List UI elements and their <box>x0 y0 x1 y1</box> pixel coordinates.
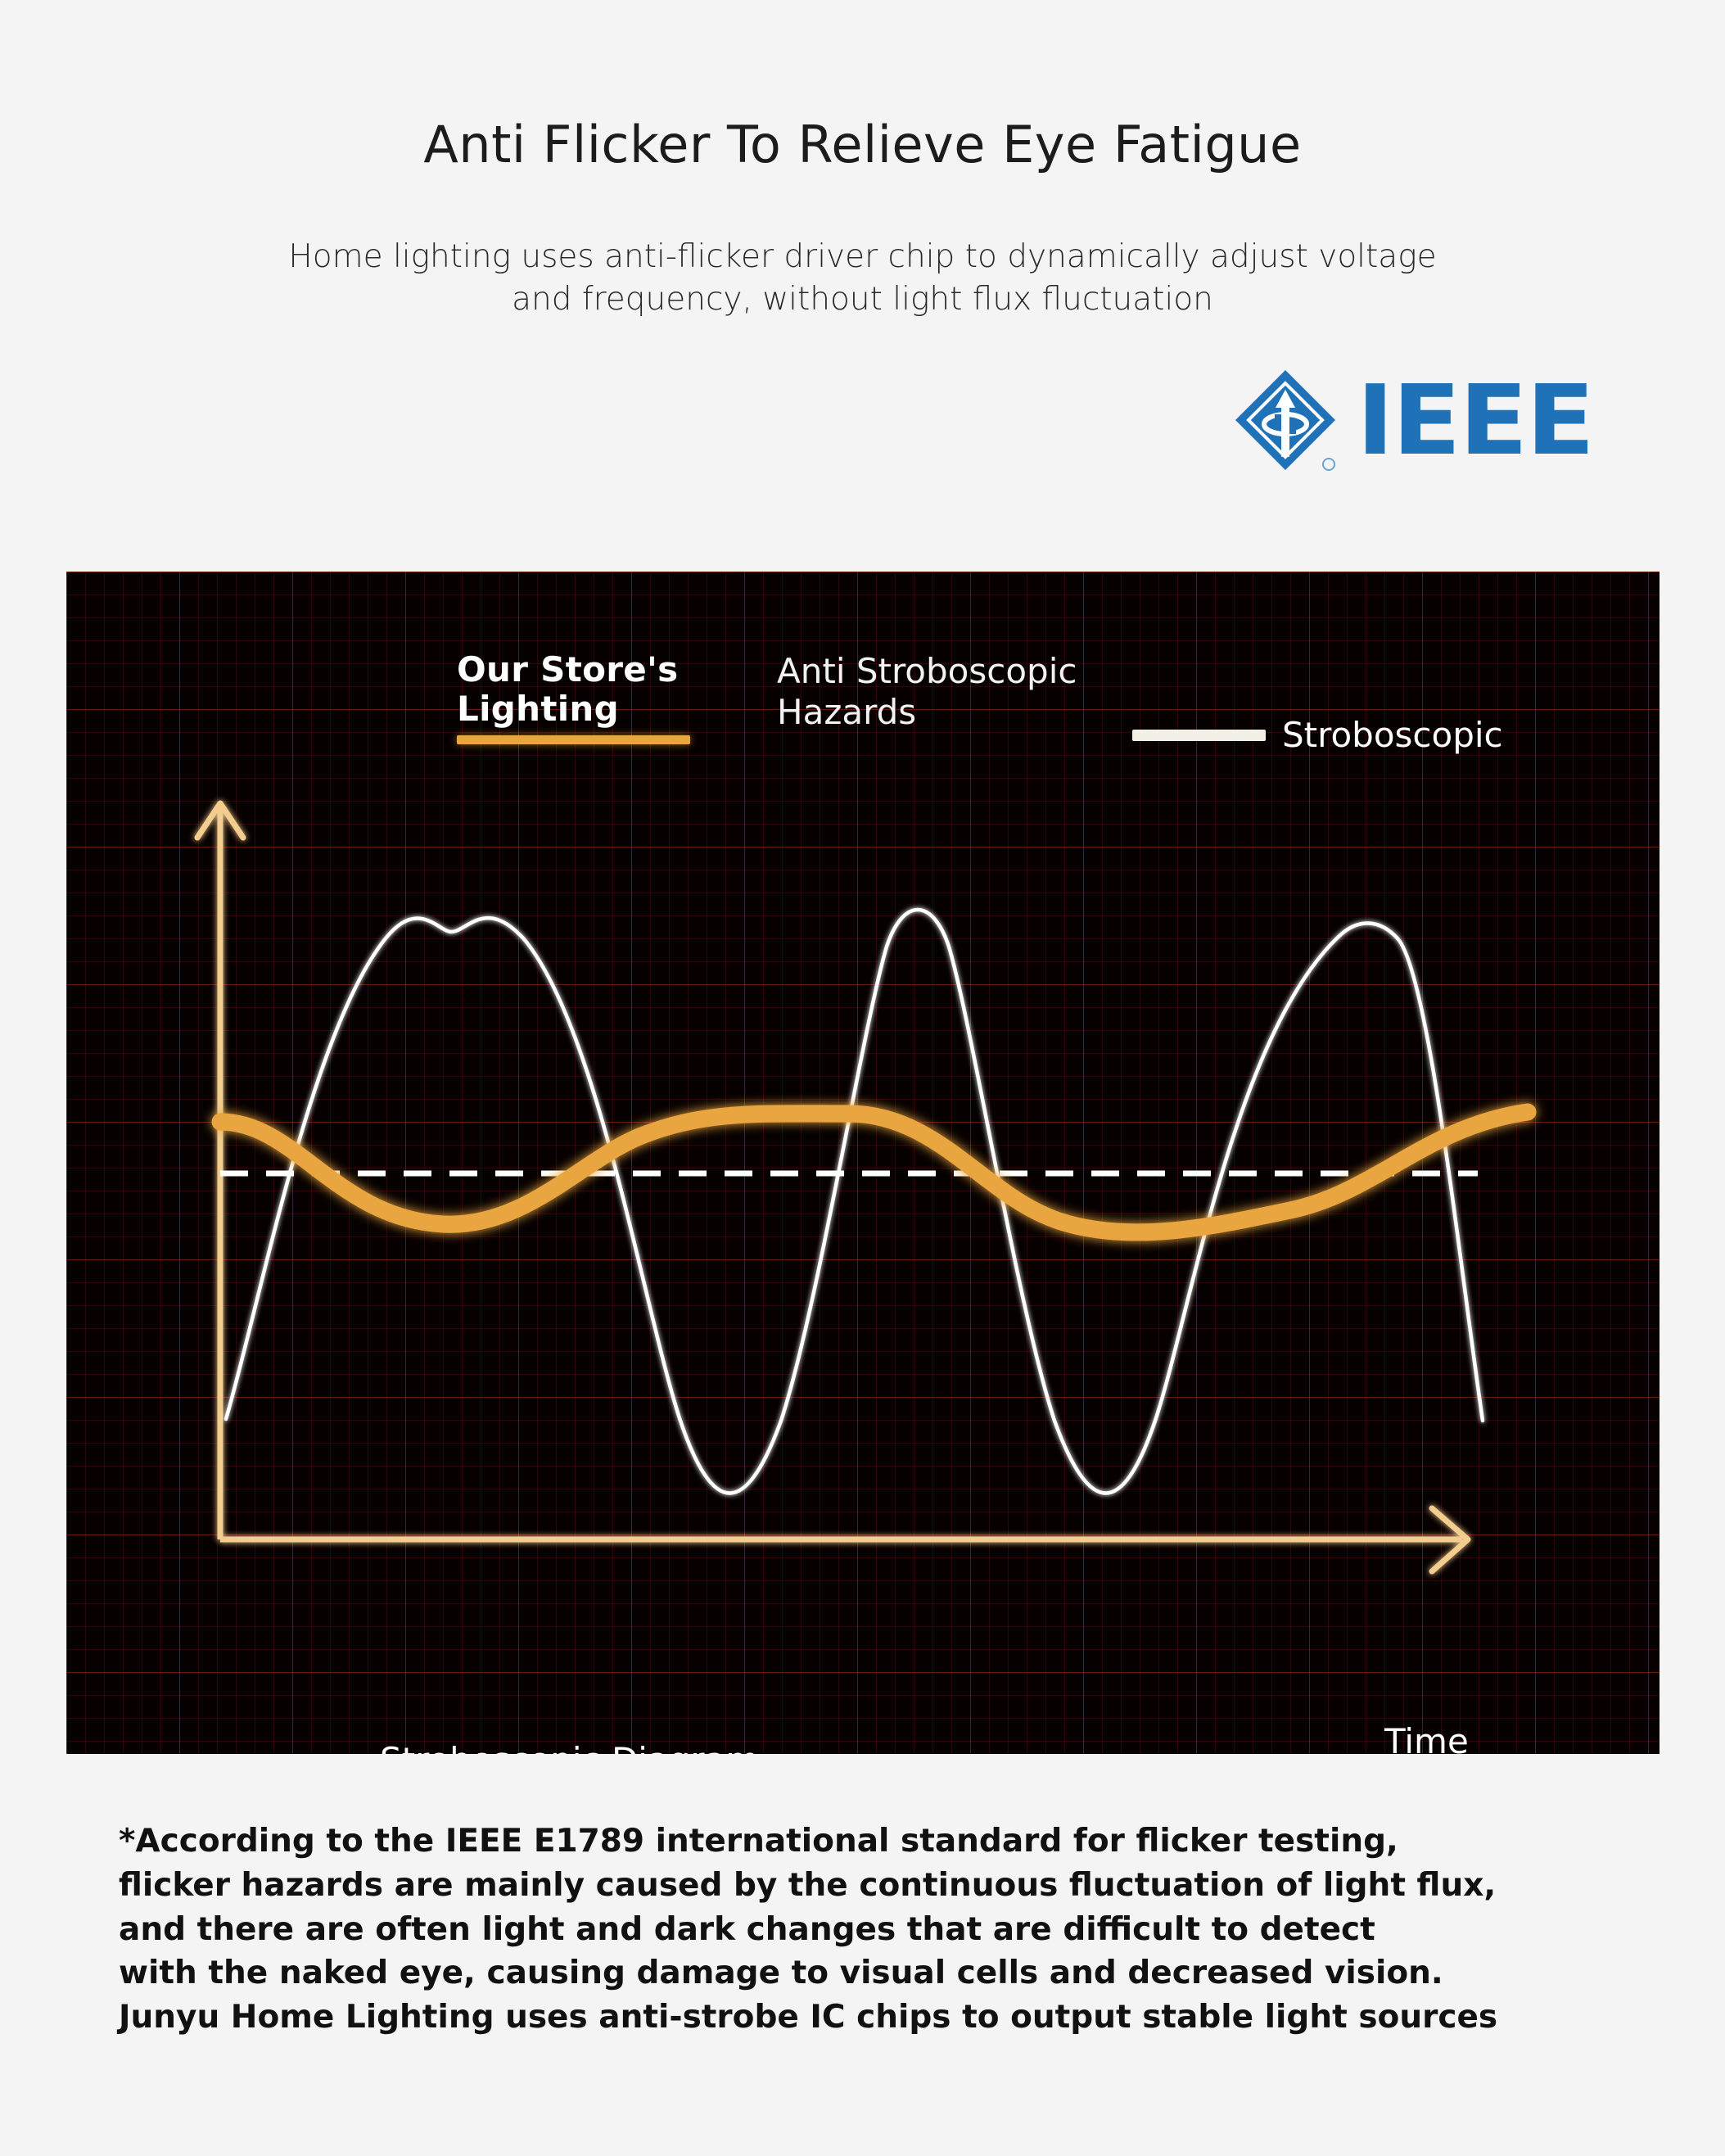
ieee-wordmark: IEEE <box>1357 372 1593 468</box>
x-axis-label: Time <box>1384 1721 1469 1754</box>
page-subtitle-line-2: and frequency, without light flux fluctu… <box>0 278 1725 321</box>
ieee-logo: IEEE <box>1232 363 1650 477</box>
footnote-line-1: *According to the IEEE E1789 internation… <box>119 1819 1625 1864</box>
chart-title-caption: Stroboscopic Diagram <box>380 1740 759 1754</box>
x-axis <box>220 1508 1468 1571</box>
page-subtitle: Home lighting uses anti-flicker driver c… <box>0 236 1725 321</box>
footnote-block: *According to the IEEE E1789 internation… <box>119 1819 1625 2040</box>
chart-plot-area <box>66 572 1660 1754</box>
stroboscopic-chart-panel: Our Store's Lighting Anti Stroboscopic H… <box>66 572 1660 1754</box>
footnote-line-5: Junyu Home Lighting uses anti-strobe IC … <box>119 1996 1625 2040</box>
page-title: Anti Flicker To Relieve Eye Fatigue <box>0 115 1725 174</box>
footnote-line-4: with the naked eye, causing damage to vi… <box>119 1951 1625 1996</box>
page-subtitle-line-1: Home lighting uses anti-flicker driver c… <box>0 236 1725 278</box>
footnote-line-3: and there are often light and dark chang… <box>119 1908 1625 1952</box>
ieee-diamond-icon <box>1232 367 1339 473</box>
footnote-line-2: flicker hazards are mainly caused by the… <box>119 1864 1625 1908</box>
